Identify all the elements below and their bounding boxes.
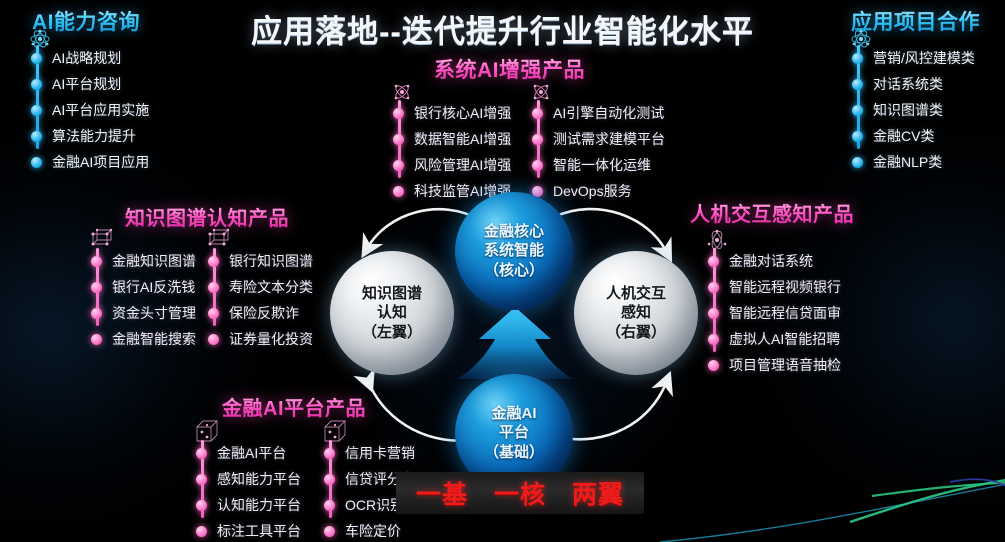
list-item-label: 车险定价 (345, 524, 401, 538)
sphere-line: 人机交互 (606, 284, 666, 303)
sphere-right-wing[interactable]: 人机交互 感知 （右翼） (574, 251, 698, 375)
list-item-label: 金融智能搜索 (112, 332, 196, 346)
list-item-label: 智能远程视频银行 (729, 280, 841, 294)
list-item[interactable]: 项目管理语音抽检 (713, 352, 841, 378)
bullet-dot (324, 500, 335, 511)
bullet-dot (196, 448, 207, 459)
bullet-dot (31, 105, 42, 116)
bullet-dot (91, 256, 102, 267)
bullet-dot (393, 160, 404, 171)
list-item[interactable]: AI战略规划 (36, 45, 149, 71)
list-item-label: 数据智能AI增强 (414, 132, 511, 146)
bullet-dot (708, 308, 719, 319)
list-item[interactable]: AI平台规划 (36, 71, 149, 97)
list-item[interactable]: 知识图谱类 (857, 97, 975, 123)
bullet-dot (196, 526, 207, 537)
bullet-dot (708, 360, 719, 371)
list-item[interactable]: 金融AI平台 (201, 440, 301, 466)
sphere-line: 金融AI (491, 404, 536, 423)
bullet-dot (208, 256, 219, 267)
list-project-cooperation: 营销/风控建模类 对话系统类 知识图谱类 金融CV类 金融NLP类 (857, 45, 975, 175)
list-item[interactable]: 测试需求建模平台 (537, 126, 665, 152)
list-item[interactable]: 银行知识图谱 (213, 248, 313, 274)
bullet-dot (393, 134, 404, 145)
list-item-label: 银行核心AI增强 (414, 106, 511, 120)
list-item[interactable]: 标注工具平台 (201, 518, 301, 542)
sphere-line: （左翼） (362, 323, 422, 342)
slogan-word: 一核 (494, 475, 546, 511)
list-item[interactable]: 保险反欺诈 (213, 300, 313, 326)
list-item[interactable]: 银行核心AI增强 (398, 100, 511, 126)
list-item-label: 风险管理AI增强 (414, 158, 511, 172)
list-item-label: AI平台规划 (52, 77, 121, 91)
list-item[interactable]: 金融知识图谱 (96, 248, 196, 274)
list-item-label: 金融CV类 (873, 129, 934, 143)
bullet-dot (532, 160, 543, 171)
sphere-line: 知识图谱 (362, 284, 422, 303)
bullet-dot (31, 157, 42, 168)
list-item[interactable]: 寿险文本分类 (213, 274, 313, 300)
list-item[interactable]: 车险定价 (329, 518, 415, 542)
list-item-label: 寿险文本分类 (229, 280, 313, 294)
bullet-dot (208, 282, 219, 293)
list-item[interactable]: 金融AI项目应用 (36, 149, 149, 175)
bullet-dot (31, 79, 42, 90)
list-item-label: AI战略规划 (52, 51, 121, 65)
list-item[interactable]: 金融对话系统 (713, 248, 841, 274)
bullet-dot (852, 53, 863, 64)
sphere-line: （基础） (484, 443, 544, 462)
sphere-left-wing[interactable]: 知识图谱 认知 （左翼） (330, 251, 454, 375)
list-item-label: 营销/风控建模类 (873, 51, 975, 65)
list-item-label: 银行知识图谱 (229, 254, 313, 268)
bullet-dot (852, 79, 863, 90)
list-item-label: 资金头寸管理 (112, 306, 196, 320)
bullet-dot (532, 134, 543, 145)
list-knowledge-graph-b: 银行知识图谱 寿险文本分类 保险反欺诈 证券量化投资 (213, 248, 313, 352)
list-item-label: 知识图谱类 (873, 103, 943, 117)
footer-slogan-strip: 一基 一核 两翼 (396, 472, 644, 514)
bullet-dot (196, 474, 207, 485)
bullet-dot (852, 131, 863, 142)
list-item[interactable]: 金融智能搜索 (96, 326, 196, 352)
bullet-dot (708, 334, 719, 345)
list-item-label: 对话系统类 (873, 77, 943, 91)
slogan-word: 两翼 (572, 475, 624, 511)
list-item-label: 认知能力平台 (217, 498, 301, 512)
bullet-dot (91, 282, 102, 293)
list-platform-a: 金融AI平台 感知能力平台 认知能力平台 标注工具平台 (201, 440, 301, 542)
sphere-line: （核心） (484, 261, 544, 280)
list-item-label: 测试需求建模平台 (553, 132, 665, 146)
sphere-line: （右翼） (606, 323, 666, 342)
list-item-label: 标注工具平台 (217, 524, 301, 538)
list-ai-consulting: AI战略规划 AI平台规划 AI平台应用实施 算法能力提升 金融AI项目应用 (36, 45, 149, 175)
list-item-label: 金融NLP类 (873, 155, 942, 169)
list-item[interactable]: 资金头寸管理 (96, 300, 196, 326)
list-item-label: 智能一体化运维 (553, 158, 651, 172)
bullet-dot (31, 53, 42, 64)
list-item[interactable]: 智能远程信贷面审 (713, 300, 841, 326)
heading-system-ai: 系统AI增强产品 (434, 54, 585, 84)
list-hci: 金融对话系统 智能远程视频银行 智能远程信贷面审 虚拟人AI智能招聘 项目管理语… (713, 248, 841, 378)
slogan-word: 一基 (416, 475, 468, 511)
list-item-label: AI平台应用实施 (52, 103, 149, 117)
bullet-dot (852, 157, 863, 168)
list-item[interactable]: 认知能力平台 (201, 492, 301, 518)
list-item[interactable]: 算法能力提升 (36, 123, 149, 149)
list-item[interactable]: 虚拟人AI智能招聘 (713, 326, 841, 352)
sphere-line: 感知 (621, 303, 651, 322)
bullet-dot (91, 334, 102, 345)
list-item[interactable]: 金融NLP类 (857, 149, 975, 175)
bullet-dot (708, 282, 719, 293)
list-item[interactable]: 感知能力平台 (201, 466, 301, 492)
heading-hci: 人机交互感知产品 (690, 198, 854, 227)
bullet-dot (31, 131, 42, 142)
list-item-label: AI引擎自动化测试 (553, 106, 664, 120)
sphere-line: 认知 (377, 303, 407, 322)
list-item[interactable]: 智能一体化运维 (537, 152, 665, 178)
list-item[interactable]: AI平台应用实施 (36, 97, 149, 123)
list-item[interactable]: 智能远程视频银行 (713, 274, 841, 300)
list-item-label: 金融对话系统 (729, 254, 813, 268)
bullet-dot (196, 500, 207, 511)
list-item-label: 算法能力提升 (52, 129, 136, 143)
list-item[interactable]: 证券量化投资 (213, 326, 313, 352)
list-item-label: 感知能力平台 (217, 472, 301, 486)
list-item[interactable]: 银行AI反洗钱 (96, 274, 196, 300)
list-item-label: 银行AI反洗钱 (112, 280, 195, 294)
list-item-label: 项目管理语音抽检 (729, 358, 841, 372)
bullet-dot (91, 308, 102, 319)
list-item-label: 虚拟人AI智能招聘 (729, 332, 840, 346)
list-item[interactable]: 营销/风控建模类 (857, 45, 975, 71)
bullet-dot (324, 526, 335, 537)
up-arrow-icon (455, 305, 575, 383)
list-item[interactable]: 对话系统类 (857, 71, 975, 97)
list-item-label: 金融知识图谱 (112, 254, 196, 268)
bullet-dot (708, 256, 719, 267)
list-item-label: 证券量化投资 (229, 332, 313, 346)
list-item-label: 金融AI项目应用 (52, 155, 149, 169)
list-item[interactable]: 风险管理AI增强 (398, 152, 511, 178)
sphere-line: 平台 (499, 423, 529, 442)
slide-canvas: 应用落地--迭代提升行业智能化水平 AI能力咨询 AI战略规划 AI平台规划 A… (0, 0, 1005, 542)
sphere-line: 系统智能 (484, 241, 544, 260)
bullet-dot (393, 108, 404, 119)
bullet-dot (208, 334, 219, 345)
list-item-label: 金融AI平台 (217, 446, 286, 460)
sphere-core[interactable]: 金融核心 系统智能 （核心） (455, 192, 573, 310)
bullet-dot (852, 105, 863, 116)
list-knowledge-graph-a: 金融知识图谱 银行AI反洗钱 资金头寸管理 金融智能搜索 (96, 248, 196, 352)
sphere-line: 金融核心 (484, 222, 544, 241)
list-item[interactable]: AI引擎自动化测试 (537, 100, 665, 126)
list-item[interactable]: 数据智能AI增强 (398, 126, 511, 152)
bullet-dot (208, 308, 219, 319)
list-item[interactable]: 金融CV类 (857, 123, 975, 149)
bullet-dot (532, 108, 543, 119)
list-item-label: 智能远程信贷面审 (729, 306, 841, 320)
list-item-label: 保险反欺诈 (229, 306, 299, 320)
